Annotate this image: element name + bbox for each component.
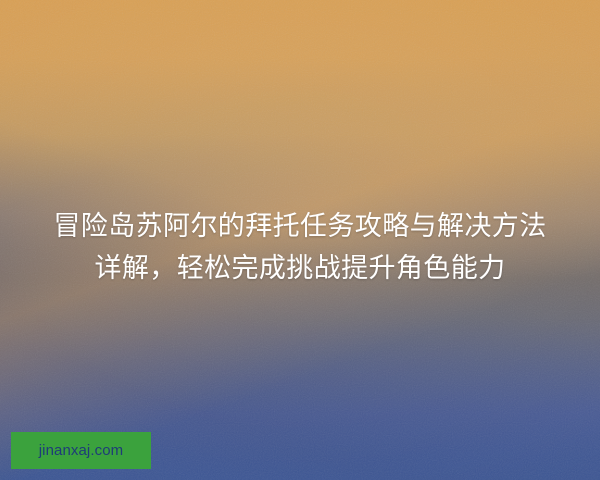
page-title: 冒险岛苏阿尔的拜托任务攻略与解决方法 详解，轻松完成挑战提升角色能力	[0, 205, 600, 289]
watermark-badge: jinanxaj.com	[11, 432, 151, 469]
title-card: 冒险岛苏阿尔的拜托任务攻略与解决方法 详解，轻松完成挑战提升角色能力 jinan…	[0, 0, 600, 480]
watermark-label: jinanxaj.com	[39, 443, 124, 458]
